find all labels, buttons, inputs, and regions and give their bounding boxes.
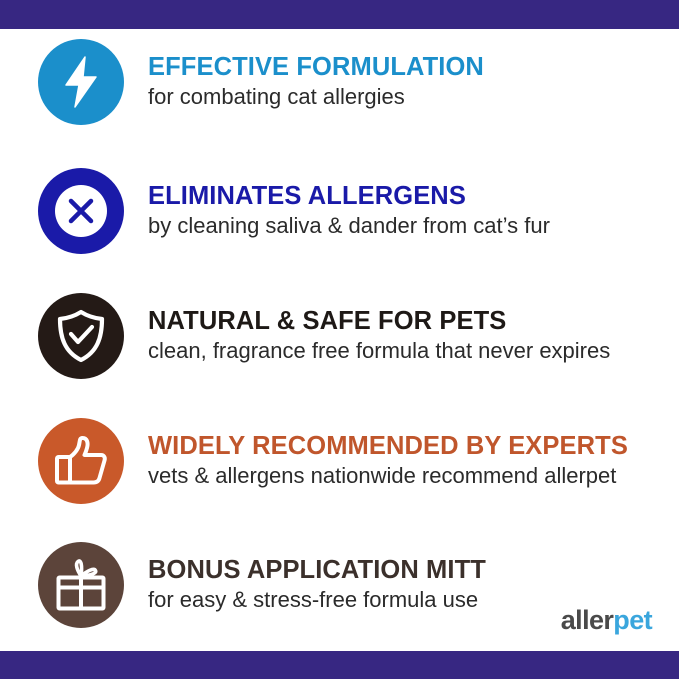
feature-headline: WIDELY RECOMMENDED BY EXPERTS	[148, 432, 679, 461]
feature-headline: EFFECTIVE FORMULATION	[148, 53, 679, 82]
feature-row-natural-safe-for-pets: NATURAL & SAFE FOR PETS clean, fragrance…	[0, 293, 679, 378]
gift-box-icon	[53, 557, 109, 613]
feature-text-block: EFFECTIVE FORMULATION for combating cat …	[148, 53, 679, 111]
feature-headline: BONUS APPLICATION MITT	[148, 556, 679, 585]
feature-subline: clean, fragrance free formula that never…	[148, 338, 679, 364]
feature-icon-circle	[38, 418, 124, 504]
brand-logo-pet: pet	[613, 605, 652, 635]
feature-subline: by cleaning saliva & dander from cat’s f…	[148, 213, 679, 239]
feature-subline: vets & allergens nationwide recommend al…	[148, 463, 679, 489]
feature-icon-circle	[38, 168, 124, 254]
feature-icon-circle	[38, 293, 124, 379]
feature-row-widely-recommended: WIDELY RECOMMENDED BY EXPERTS vets & all…	[0, 418, 679, 503]
feature-text-block: NATURAL & SAFE FOR PETS clean, fragrance…	[148, 307, 679, 365]
x-circle-icon	[38, 168, 124, 254]
top-accent-band	[0, 0, 679, 29]
brand-logo-aller: aller	[561, 605, 614, 635]
bottom-accent-band	[0, 651, 679, 679]
feature-list: EFFECTIVE FORMULATION for combating cat …	[0, 29, 679, 651]
feature-row-eliminates-allergens: ELIMINATES ALLERGENS by cleaning saliva …	[0, 168, 679, 253]
feature-headline: NATURAL & SAFE FOR PETS	[148, 307, 679, 336]
feature-icon-circle	[38, 542, 124, 628]
thumbs-up-icon	[53, 435, 109, 487]
feature-text-block: ELIMINATES ALLERGENS by cleaning saliva …	[148, 182, 679, 240]
lightning-bolt-icon	[58, 55, 104, 109]
feature-headline: ELIMINATES ALLERGENS	[148, 182, 679, 211]
product-feature-banner: EFFECTIVE FORMULATION for combating cat …	[0, 0, 679, 679]
feature-subline: for combating cat allergies	[148, 84, 679, 110]
feature-icon-circle	[38, 39, 124, 125]
brand-logo: allerpet	[561, 607, 652, 634]
feature-row-effective-formulation: EFFECTIVE FORMULATION for combating cat …	[0, 39, 679, 124]
shield-check-icon	[55, 308, 107, 364]
feature-text-block: WIDELY RECOMMENDED BY EXPERTS vets & all…	[148, 432, 679, 490]
